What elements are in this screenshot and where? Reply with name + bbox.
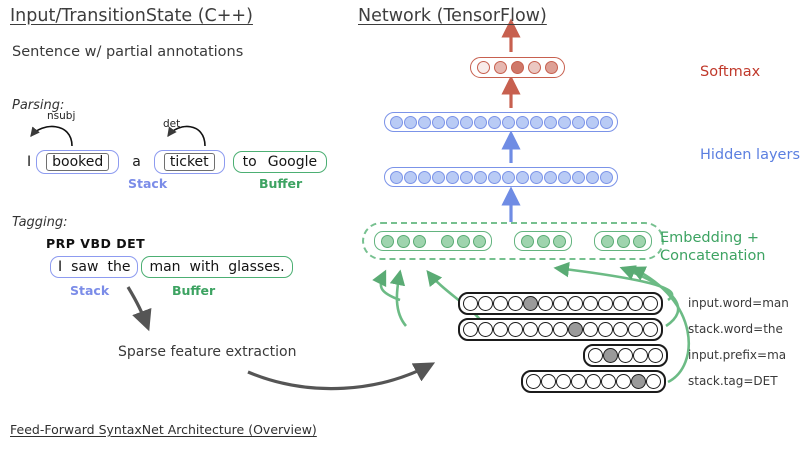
hidden-1-unit-0 (390, 171, 403, 184)
embedding-1-unit-0-2 (553, 235, 566, 248)
sparse-cell-1-13 (643, 322, 658, 337)
hidden-0-unit-10 (530, 116, 543, 129)
sparse-cell-1-7 (553, 322, 568, 337)
tagging-stack-chip[interactable]: I saw the (50, 256, 138, 278)
hidden-0-unit-15 (600, 116, 613, 129)
parsing-stack-word-ticket: ticket (164, 153, 215, 171)
parsing-buffer-word-to: to (243, 154, 257, 170)
sparse-cell-1-9 (583, 322, 598, 337)
sparse-cell-2-2 (603, 348, 618, 363)
sparse-cell-1-5 (523, 322, 538, 337)
sparse-vector-cells (458, 292, 663, 315)
hidden-0-unit-6 (474, 116, 487, 129)
sparse-cell-1-8 (568, 322, 583, 337)
sparse-cell-1-4 (508, 322, 523, 337)
sparse-cell-3-5 (586, 374, 601, 389)
sparse-cell-0-9 (583, 296, 598, 311)
hidden-1-unit-8 (502, 171, 515, 184)
hidden-0-unit-2 (418, 116, 431, 129)
embedding-1-unit-0-0 (521, 235, 534, 248)
hidden-1-unit-3 (432, 171, 445, 184)
hidden-0-unit-12 (558, 116, 571, 129)
embedding-0-unit-1-2 (473, 235, 486, 248)
embedding-group-1[interactable] (514, 231, 572, 251)
sparse-feature-label: input.word=man (688, 296, 789, 310)
hidden-0-unit-9 (516, 116, 529, 129)
embedding-concat-block[interactable] (362, 222, 664, 260)
tagging-buffer-label: Buffer (172, 283, 215, 298)
parsing-stack-chip-2[interactable]: ticket (154, 150, 225, 174)
extraction-arrow-down (128, 287, 148, 328)
parsing-token-row: I booked a ticket to Google (22, 150, 327, 174)
sparse-cell-1-1 (463, 322, 478, 337)
right-column-title: Network (TensorFlow) (358, 6, 547, 26)
embedding-1-unit-0-1 (537, 235, 550, 248)
sparse-cell-3-3 (556, 374, 571, 389)
hidden-1-unit-5 (460, 171, 473, 184)
tagging-stack-label: Stack (70, 283, 109, 298)
embedding-group-2[interactable] (594, 231, 652, 251)
sparse-feature-label: stack.word=the (688, 322, 783, 336)
parsing-buffer-word-google: Google (268, 154, 317, 170)
embedding-0-unit-0-0 (381, 235, 394, 248)
hidden-1-unit-13 (572, 171, 585, 184)
parsing-buffer-chip[interactable]: to Google (233, 151, 327, 173)
tagging-stack-word-saw: saw (71, 259, 98, 275)
diagram-canvas: Input/TransitionState (C++) Network (Ten… (0, 0, 800, 450)
sparse-cell-3-6 (601, 374, 616, 389)
parsing-stack-word-booked: booked (46, 153, 109, 171)
sparse-cell-1-6 (538, 322, 553, 337)
softmax-layer[interactable] (470, 57, 565, 78)
hidden-1-unit-7 (488, 171, 501, 184)
sparse-cell-1-12 (628, 322, 643, 337)
sparse-cell-1-10 (598, 322, 613, 337)
sparse-feature-extraction-label: Sparse feature extraction (118, 344, 296, 360)
embedding-2-unit-0-0 (601, 235, 614, 248)
softmax-units (470, 57, 565, 78)
hidden-0-unit-4 (446, 116, 459, 129)
left-column-title: Input/TransitionState (C++) (10, 6, 253, 26)
sparse-vector-row[interactable] (583, 344, 668, 367)
hidden-0-unit-8 (502, 116, 515, 129)
hidden-0-unit-11 (544, 116, 557, 129)
hidden-0-unit-0 (390, 116, 403, 129)
embedding-label-line2: Concatenation (660, 247, 766, 265)
sparse-feature-label: input.prefix=ma (688, 348, 786, 362)
embedding-0-unit-1-0 (441, 235, 454, 248)
hidden-0-unit-14 (586, 116, 599, 129)
hidden-1-unit-11 (544, 171, 557, 184)
sparse-cell-1-3 (493, 322, 508, 337)
sparse-vector-cells (583, 344, 668, 367)
left-subtitle: Sentence w/ partial annotations (12, 44, 243, 60)
softmax-unit-3 (528, 61, 541, 74)
sparse-cell-2-3 (618, 348, 633, 363)
hidden-layers-label: Hidden layers (700, 146, 800, 164)
arc-label-nsubj: nsubj (47, 110, 75, 122)
sparse-vector-row[interactable] (458, 318, 663, 341)
sparse-cell-0-10 (598, 296, 613, 311)
sparse-cell-3-1 (526, 374, 541, 389)
hidden-0-unit-3 (432, 116, 445, 129)
sparse-cell-0-1 (463, 296, 478, 311)
sparse-cell-0-13 (643, 296, 658, 311)
sparse-vector-cells (458, 318, 663, 341)
sparse-cell-0-7 (553, 296, 568, 311)
hidden-0-unit-13 (572, 116, 585, 129)
hidden-1-unit-15 (600, 171, 613, 184)
tagging-section-label: Tagging: (12, 215, 68, 230)
embedding-0-unit-1-1 (457, 235, 470, 248)
hidden-1-unit-2 (418, 171, 431, 184)
softmax-unit-2 (511, 61, 524, 74)
softmax-unit-1 (494, 61, 507, 74)
tagging-buffer-word-glasses: glasses. (228, 259, 284, 275)
hidden-0-unit-7 (488, 116, 501, 129)
embedding-label-wrap: Embedding + Concatenation (660, 229, 766, 265)
sparse-cell-2-5 (648, 348, 663, 363)
sparse-vector-row[interactable] (521, 370, 666, 393)
hidden-layer-2[interactable] (384, 112, 618, 132)
sparse-vector-cells (521, 370, 666, 393)
sparse-cell-0-2 (478, 296, 493, 311)
figure-caption: Feed-Forward SyntaxNet Architecture (Ove… (10, 422, 317, 437)
embedding-2-unit-0-1 (617, 235, 630, 248)
sparse-cell-3-2 (541, 374, 556, 389)
tagging-buffer-word-man: man (149, 259, 180, 275)
sparse-cell-0-6 (538, 296, 553, 311)
hidden-layer-2-units (384, 112, 618, 132)
embedding-group-0[interactable] (374, 231, 492, 251)
sparse-cell-0-3 (493, 296, 508, 311)
hidden-1-unit-9 (516, 171, 529, 184)
sparse-cell-0-5 (523, 296, 538, 311)
tagging-stack-word-i: I (58, 259, 62, 275)
hidden-1-unit-1 (404, 171, 417, 184)
parsing-token-mid: a (119, 154, 154, 170)
embedding-0-unit-0-1 (397, 235, 410, 248)
arc-label-det: det (163, 118, 180, 130)
embedding-2-unit-0-2 (633, 235, 646, 248)
hidden-0-unit-1 (404, 116, 417, 129)
embedding-0-unit-0-2 (413, 235, 426, 248)
sparse-cell-3-8 (631, 374, 646, 389)
parsing-stack-label: Stack (128, 176, 167, 191)
softmax-unit-4 (545, 61, 558, 74)
sparse-cell-1-2 (478, 322, 493, 337)
sparse-cell-3-7 (616, 374, 631, 389)
sparse-vector-row[interactable] (458, 292, 663, 315)
parsing-buffer-label: Buffer (259, 176, 302, 191)
sparse-cell-0-8 (568, 296, 583, 311)
hidden-1-unit-14 (586, 171, 599, 184)
hidden-1-unit-10 (530, 171, 543, 184)
parsing-stack-chip-1[interactable]: booked (36, 150, 119, 174)
softmax-label: Softmax (700, 63, 760, 81)
hidden-1-unit-4 (446, 171, 459, 184)
embedding-dashed-container (362, 222, 664, 260)
sparse-cell-3-4 (571, 374, 586, 389)
dependency-arc-nsubj (31, 127, 72, 146)
softmax-unit-0 (477, 61, 490, 74)
sparse-cell-0-12 (628, 296, 643, 311)
hidden-layer-1[interactable] (384, 167, 618, 187)
sparse-cell-0-4 (508, 296, 523, 311)
tagging-token-row: I saw the man with glasses. (50, 256, 293, 278)
hidden-1-unit-6 (474, 171, 487, 184)
hidden-1-unit-12 (558, 171, 571, 184)
embedding-label-line1: Embedding + (660, 229, 766, 247)
tagging-pos-tags: PRP VBD DET (46, 236, 145, 251)
tagging-buffer-word-with: with (190, 259, 220, 275)
hidden-0-unit-5 (460, 116, 473, 129)
sparse-cell-1-11 (613, 322, 628, 337)
sparse-cell-0-11 (613, 296, 628, 311)
sparse-cell-3-9 (646, 374, 661, 389)
extraction-arrow-right (248, 364, 432, 389)
hidden-layer-1-units (384, 167, 618, 187)
parsing-token-lead: I (22, 154, 36, 170)
sparse-cell-2-4 (633, 348, 648, 363)
tagging-stack-word-the: the (107, 259, 130, 275)
tagging-buffer-chip[interactable]: man with glasses. (141, 256, 292, 278)
sparse-feature-label: stack.tag=DET (688, 374, 778, 388)
sparse-cell-2-1 (588, 348, 603, 363)
